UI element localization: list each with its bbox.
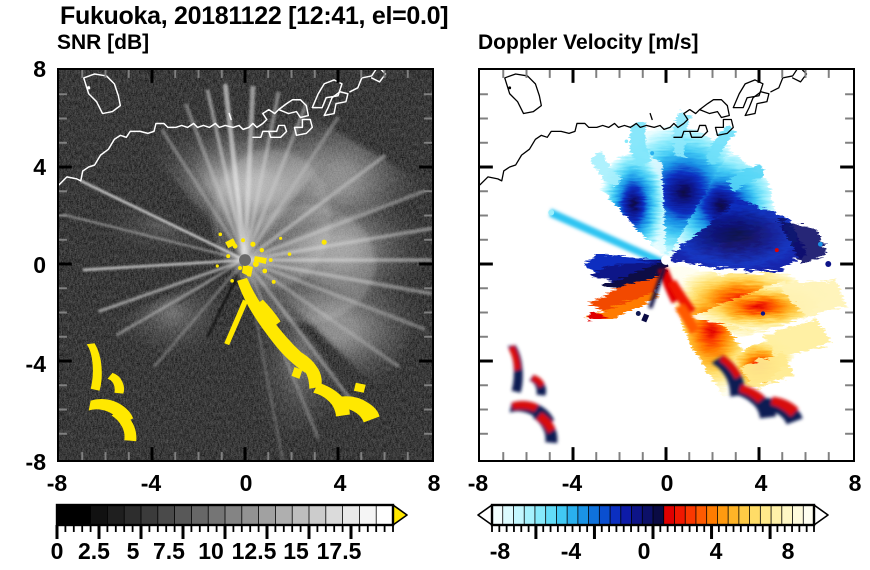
x-tick-label: 0	[647, 470, 687, 497]
snr-cbar-label: 17.5	[309, 538, 369, 565]
doppler-cbar-label: -4	[551, 538, 591, 565]
y-tick-label: -4	[0, 351, 46, 378]
x-tick-label: -8	[458, 470, 498, 497]
y-tick-label: 8	[6, 56, 46, 83]
radar-site-marker	[239, 254, 251, 266]
x-tick-label: -8	[37, 470, 77, 497]
doppler-plot[interactable]	[478, 68, 855, 462]
doppler-cbar-label: 0	[624, 538, 664, 565]
snr-plot[interactable]	[57, 68, 434, 462]
x-tick-label: 8	[414, 470, 454, 497]
panel-title-doppler: Doppler Velocity [m/s]	[478, 31, 699, 55]
snr-cbar-label: 7.5	[144, 538, 194, 565]
doppler-cbar-label: -8	[480, 538, 520, 565]
x-tick-label: 8	[835, 470, 870, 497]
x-tick-label: -4	[552, 470, 592, 497]
y-tick-label: 4	[6, 154, 46, 181]
doppler-cbar-label: 4	[696, 538, 736, 565]
x-tick-label: 4	[741, 470, 781, 497]
radar-figure: Fukuoka, 20181122 [12:41, el=0.0] SNR [d…	[0, 0, 870, 570]
doppler-colorbar[interactable]	[478, 505, 828, 525]
x-tick-label: 0	[226, 470, 266, 497]
panel-title-snr: SNR [dB]	[57, 31, 149, 55]
y-tick-label: 0	[6, 252, 46, 279]
doppler-cbar-label: 8	[768, 538, 808, 565]
snr-colorbar[interactable]	[57, 505, 407, 525]
snr-cbar-label: 2.5	[69, 538, 119, 565]
page-title: Fukuoka, 20181122 [12:41, el=0.0]	[60, 2, 448, 31]
x-tick-label: -4	[131, 470, 171, 497]
x-tick-label: 4	[320, 470, 360, 497]
